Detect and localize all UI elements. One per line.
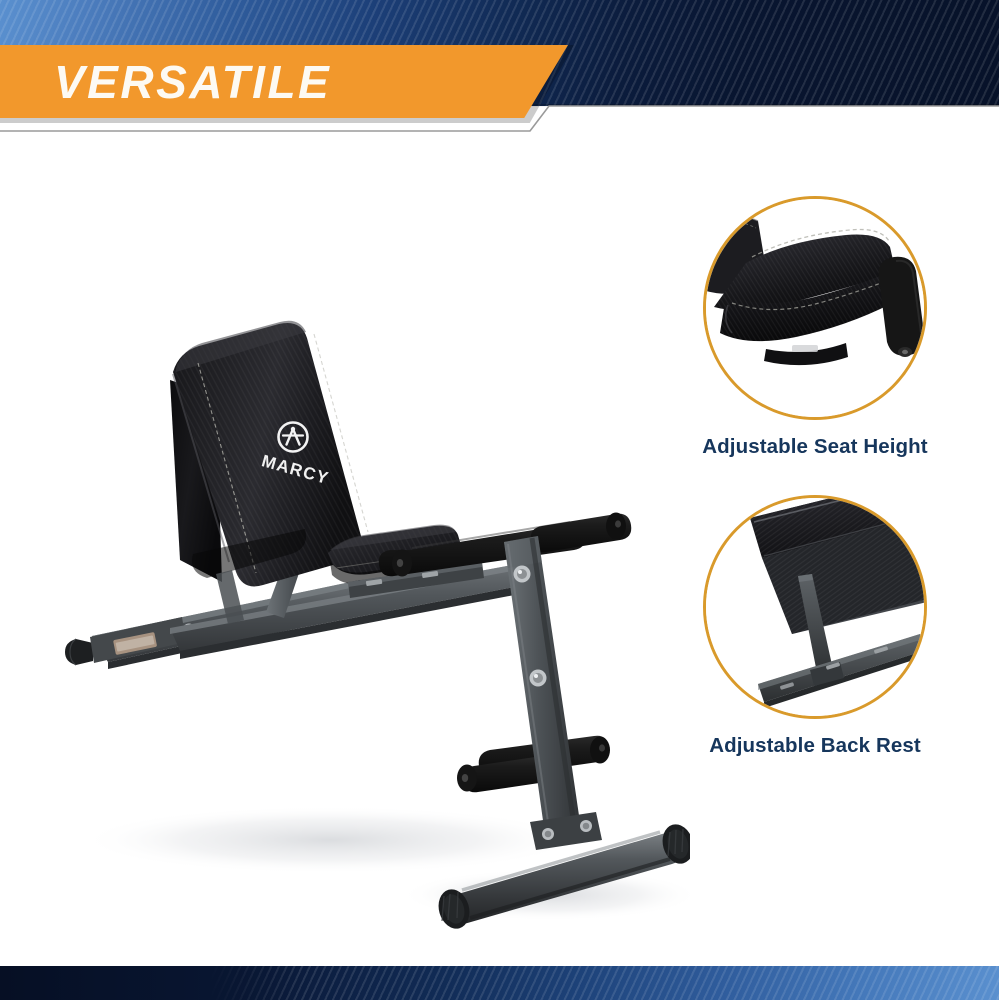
product-image: MARCY (30, 150, 690, 940)
callout-adjustable-back-rest: Adjustable Back Rest (690, 495, 940, 758)
bench-vertical-post (504, 536, 582, 842)
callout-adjustable-seat-height: Adjustable Seat Height (690, 196, 940, 459)
rail-end-cap (65, 639, 93, 665)
infographic-page: VERSATILE (0, 0, 999, 1000)
footer-band-solid-left (0, 966, 300, 1000)
post-bolt-upper (514, 566, 531, 583)
seat-height-detail-illustration (706, 199, 924, 417)
callout-image-back-rest (703, 495, 927, 719)
floor-shadow (80, 806, 580, 874)
callout-image-seat-height (703, 196, 927, 420)
back-rest-detail-illustration (706, 498, 924, 716)
base-foot-plate (530, 812, 602, 850)
page-title: VERSATILE (54, 54, 331, 110)
callout-label-back-rest: Adjustable Back Rest (690, 734, 940, 758)
foam-roller-upper-near (531, 513, 632, 553)
post-bolt-middle (530, 670, 547, 687)
callout-label-seat-height: Adjustable Seat Height (690, 435, 940, 459)
